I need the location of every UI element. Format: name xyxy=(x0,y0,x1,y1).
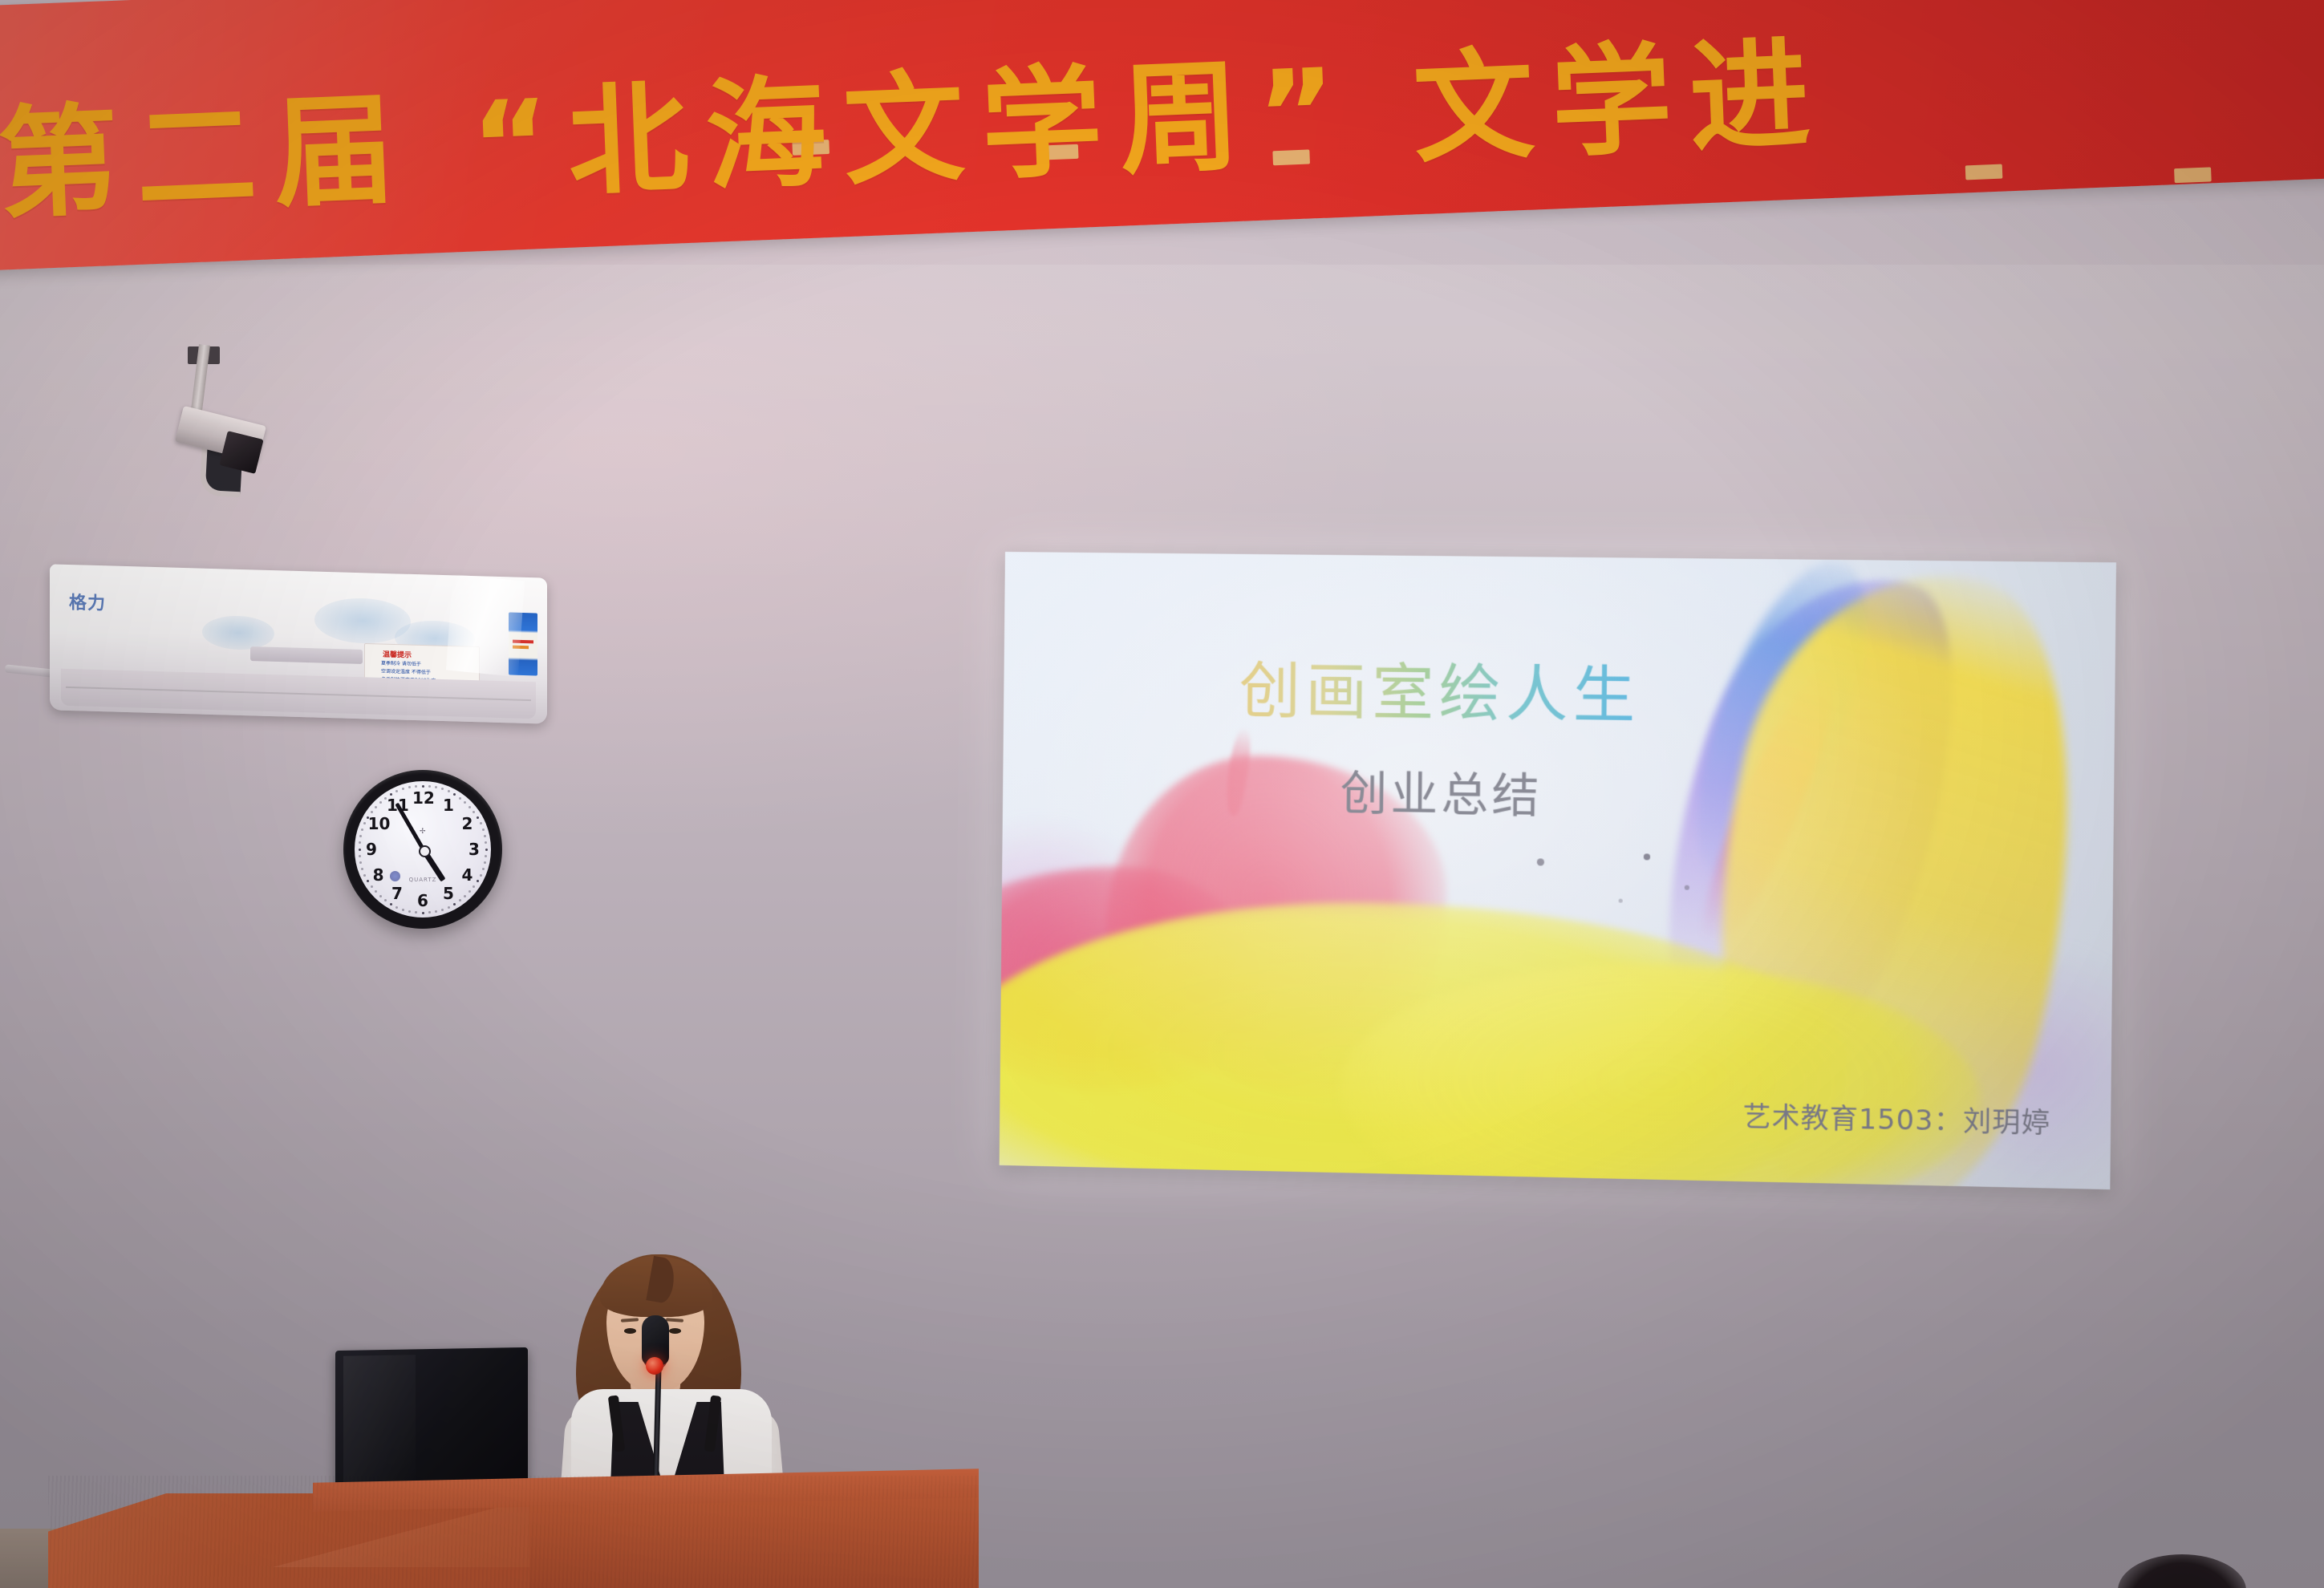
clock-face: ✢ QUARTZ 121234567891011 xyxy=(355,781,491,918)
clock-tick xyxy=(402,909,404,911)
ac-display-panel xyxy=(250,646,363,664)
clock-numeral: 7 xyxy=(387,885,408,902)
clock-tick xyxy=(371,811,373,813)
clock-tick xyxy=(435,786,437,788)
clock-tick xyxy=(485,849,488,851)
clock-tick xyxy=(468,806,471,808)
clock-tick xyxy=(441,788,444,790)
lectern xyxy=(48,1476,979,1588)
clock-tick xyxy=(384,797,387,800)
clock-numeral: 4 xyxy=(456,866,477,884)
ac-highlight xyxy=(446,574,525,677)
clock-tick xyxy=(459,899,461,901)
air-conditioner: 格力 温馨提示 夏季制冷 请勿低于 空调设定温度 不得低于 冬季制热不高于20℃… xyxy=(50,571,547,717)
clock-tick xyxy=(473,811,475,813)
clock-tick xyxy=(395,906,398,909)
slide-speck xyxy=(1619,899,1623,903)
clock-tick xyxy=(428,785,431,788)
clock-tick xyxy=(361,868,363,870)
clock-tick xyxy=(482,868,485,870)
slide-credit: 艺术教育1503：刘玥婷 xyxy=(1742,1095,2050,1141)
scene-root: 第二届 “北海文学周” 文学进 格力 温馨提示 夏季制冷 请勿低于 空调设定温度… xyxy=(0,0,2324,1588)
clock-sub-brand: QUARTZ xyxy=(409,877,437,883)
clock-tick xyxy=(402,788,404,790)
clock-tick xyxy=(359,861,362,864)
clock-tick xyxy=(379,801,382,804)
clock-tick xyxy=(363,874,366,877)
clock-numeral: 3 xyxy=(464,841,485,858)
banner-tab xyxy=(1965,164,2003,180)
banner-tab xyxy=(2174,167,2212,183)
slide-speck xyxy=(1685,885,1689,890)
clock-tick xyxy=(477,880,479,882)
slide-subtitle: 创业总结 xyxy=(1340,756,1543,826)
clock-tick xyxy=(359,835,362,837)
clock-tick xyxy=(459,797,461,800)
slide-speck xyxy=(1644,853,1650,860)
clock-numeral: 12 xyxy=(412,789,433,807)
clock-tick xyxy=(361,828,363,831)
slide-speck xyxy=(1537,858,1544,865)
clock-tick xyxy=(408,786,411,788)
clock-center-pin xyxy=(419,845,431,857)
clock-tick xyxy=(422,912,424,914)
security-camera-icon xyxy=(167,345,271,505)
clock-numeral: 1 xyxy=(438,796,459,814)
clock-tick xyxy=(415,785,417,788)
clock-numeral: 10 xyxy=(368,815,389,832)
clock-tick xyxy=(480,874,482,877)
clock-tick xyxy=(441,909,444,911)
clock-tick xyxy=(375,806,377,808)
ac-sticker-line3: 空调设定温度 不得低于 xyxy=(381,667,431,676)
clock-tick xyxy=(453,903,456,905)
clock-numeral: 8 xyxy=(368,866,389,884)
clock-tick xyxy=(428,911,431,914)
clock-tick xyxy=(464,895,466,897)
clock-tick xyxy=(375,890,377,893)
clock-tick xyxy=(464,801,466,804)
mic-led-indicator xyxy=(646,1357,663,1375)
clock-tick xyxy=(359,855,361,857)
slide-title: 创画室绘人生 xyxy=(1239,641,1641,735)
clock-tick xyxy=(485,841,487,844)
clock-tick xyxy=(485,855,487,857)
clock-tick xyxy=(390,903,392,905)
wall-clock: ✢ QUARTZ 121234567891011 xyxy=(343,770,502,929)
clock-numeral: 2 xyxy=(456,815,477,832)
clock-numeral: 5 xyxy=(438,885,459,902)
clock-tick xyxy=(435,910,437,913)
clock-tick xyxy=(480,822,482,824)
clock-tick xyxy=(415,911,417,914)
presentation-slide[interactable]: 创画室绘人生 创业总结 艺术教育1503：刘玥婷 xyxy=(1000,552,2116,1189)
clock-tick xyxy=(359,849,361,851)
ac-sticker-line2: 夏季制冷 请勿低于 xyxy=(381,659,421,667)
clock-brand: ✢ xyxy=(420,828,426,836)
clock-tick xyxy=(395,790,398,792)
clock-numeral: 9 xyxy=(361,841,382,858)
clock-tick xyxy=(477,816,479,819)
clock-tick xyxy=(484,861,486,864)
clock-tick xyxy=(371,885,373,888)
clock-tick xyxy=(422,785,424,788)
clock-tick xyxy=(468,890,471,893)
clock-tick xyxy=(482,828,485,831)
clock-tick xyxy=(363,822,366,824)
clock-tick xyxy=(408,910,411,913)
lectern-right-face xyxy=(529,1497,979,1588)
clock-tick xyxy=(473,885,475,888)
clock-tick xyxy=(484,835,486,837)
ac-sticker-line1: 温馨提示 xyxy=(383,649,412,660)
clock-tick xyxy=(448,906,450,909)
ac-brand-label: 格力 xyxy=(69,588,106,614)
clock-tick xyxy=(448,790,450,792)
clock-tick xyxy=(379,895,382,897)
clock-minute-hand xyxy=(395,803,424,851)
clock-numeral: 6 xyxy=(412,892,433,909)
clock-blue-dot xyxy=(390,871,400,881)
